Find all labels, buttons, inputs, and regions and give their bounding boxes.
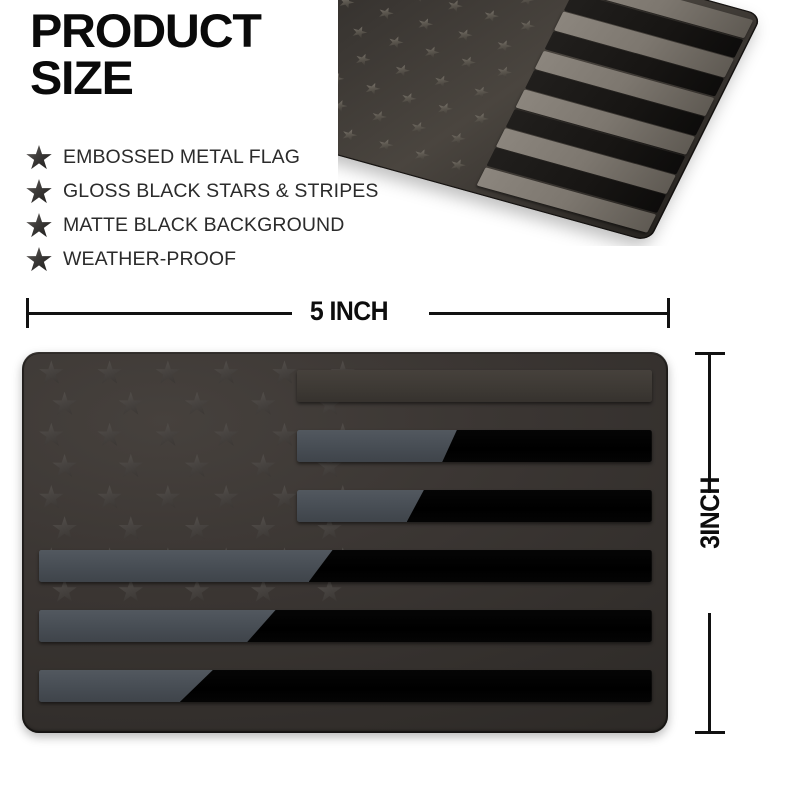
flag-stripe [297,430,652,462]
star-icon [251,578,276,603]
star-icon [24,142,54,172]
star-icon [435,101,455,116]
dimension-line-left [27,312,292,315]
star-icon [52,454,77,479]
star-icon [431,74,451,89]
star-icon [317,578,342,603]
star-icon [445,0,465,14]
width-dimension-label: 5 INCH [298,296,399,327]
star-icon [185,392,210,417]
star-icon [214,485,239,510]
flag-stripe [297,490,652,522]
star-icon [448,157,468,172]
flag-stripe [297,370,652,402]
star-icon [118,392,143,417]
star-icon [118,454,143,479]
star-icon [251,392,276,417]
product-flag-emblem [22,352,668,733]
star-icon [471,111,491,126]
star-icon [24,244,54,274]
star-icon [39,423,64,448]
star-icon [251,454,276,479]
star-icon [39,360,64,385]
star-icon [409,0,429,4]
star-icon [415,16,435,31]
star-icon [375,137,395,152]
star-icon [458,55,478,70]
star-icon [408,120,428,135]
star-icon [455,27,475,42]
feature-label: EMBOSSED METAL FLAG [63,146,300,169]
star-icon [185,454,210,479]
star-icon [118,516,143,541]
star-icon [24,210,54,240]
star-icon [97,360,122,385]
star-icon [481,8,501,23]
star-icon [214,423,239,448]
star-icon [155,485,180,510]
dimension-end-cap-bottom [695,731,725,734]
feature-label: MATTE BLACK BACKGROUND [63,214,344,237]
star-icon [338,71,346,86]
star-icon [118,578,143,603]
star-icon [471,85,491,100]
star-icon [24,176,54,206]
star-icon [185,578,210,603]
star-icon [155,360,180,385]
star-icon [272,360,297,385]
dimension-line-right [429,312,669,315]
star-icon [52,516,77,541]
star-icon [214,360,239,385]
page-title: PRODUCT SIZE [30,8,370,101]
star-icon [338,0,357,10]
star-icon [52,578,77,603]
feature-label: GLOSS BLACK STARS & STRIPES [63,180,379,203]
flag-stripe [39,550,652,582]
flag-stripe [39,610,652,642]
dimension-end-cap-right [667,298,670,328]
star-icon [52,392,77,417]
star-icon [517,0,537,7]
star-icon [155,423,180,448]
star-icon [338,98,350,113]
photo-plate [338,0,762,242]
flag-stripe [39,670,652,702]
feature-label: WEATHER-PROOF [63,248,236,271]
star-icon [97,423,122,448]
height-dimension: 3INCH [690,352,730,734]
star-icon [272,423,297,448]
star-icon [362,81,382,96]
dimension-line-bottom [708,613,711,733]
width-dimension: 5 INCH [24,296,672,332]
star-icon [251,516,276,541]
star-icon [386,35,406,50]
star-row [39,578,356,603]
star-icon [412,147,432,162]
star-icon [185,516,210,541]
star-icon [339,127,359,142]
star-icon [349,25,369,40]
star-icon [272,485,297,510]
star-icon [369,109,389,124]
product-photo [338,0,800,246]
star-icon [39,485,64,510]
star-icon [392,63,412,78]
star-icon [399,91,419,106]
star-icon [97,485,122,510]
star-icon [494,38,514,53]
star-icon [517,18,537,33]
star-icon [494,65,514,80]
star-icon [353,52,373,67]
star-icon [422,45,442,60]
star-icon [448,131,468,146]
list-item: WEATHER-PROOF [24,242,444,276]
infographic-canvas: PRODUCT SIZE EMBOSSED METAL FLAG GLOSS B… [0,0,800,800]
height-dimension-label: 3INCH [697,465,723,561]
star-icon [376,5,396,20]
